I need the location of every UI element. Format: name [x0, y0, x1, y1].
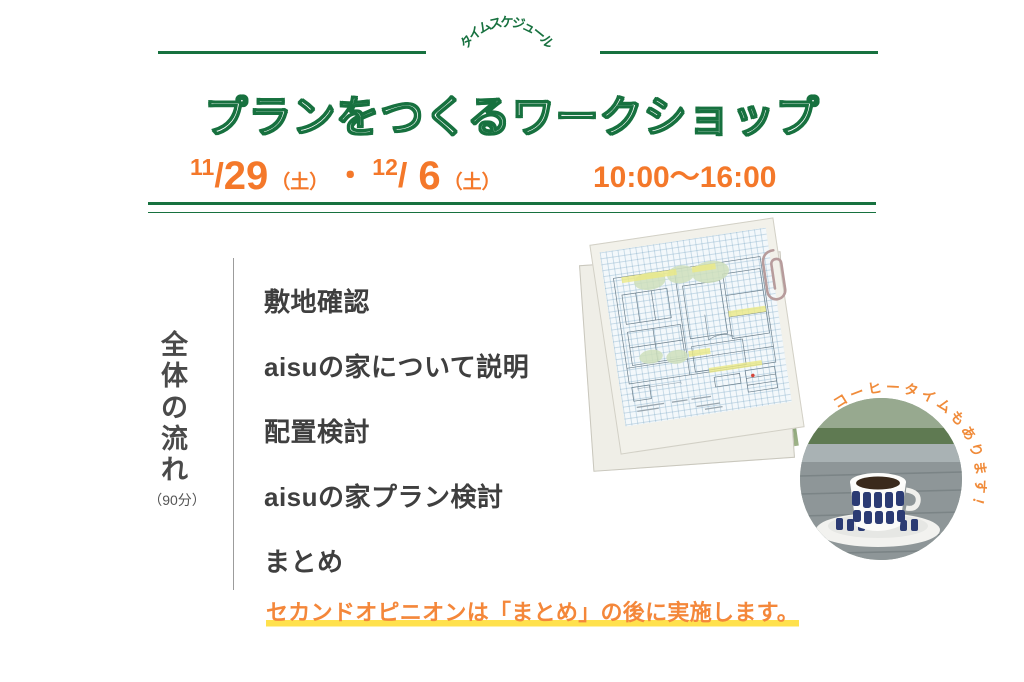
- page-title: プランをつくるワークショップ: [0, 83, 1024, 145]
- eyebrow-row: タイムスケジュール: [0, 28, 1024, 78]
- date-first-month: 11: [190, 156, 214, 179]
- arc-char: コ: [829, 389, 851, 413]
- date-first-dow: （土）: [271, 173, 328, 192]
- arc-char: ー: [886, 377, 901, 398]
- agenda-item: aisuの家プラン検討: [264, 477, 684, 514]
- date-second-dow: （土）: [444, 173, 501, 192]
- header-rule-left: [158, 51, 426, 54]
- agenda-item: 配置検討: [264, 412, 684, 449]
- coffee-caption-arc: コーヒータイムもあります！: [800, 390, 978, 568]
- date-second: 12 / 6 （土）: [372, 156, 500, 196]
- agenda-item: 敷地確認: [264, 282, 684, 319]
- arc-char: ！: [966, 495, 989, 514]
- flow-duration: （90分）: [142, 490, 212, 510]
- vertical-divider: [233, 258, 234, 590]
- date-separator: ・: [335, 162, 365, 192]
- agenda-item: aisuの家について説明: [264, 347, 684, 384]
- date-row: 11 / 29 （土） ・ 12 / 6 （土）: [190, 138, 501, 196]
- arc-char: ま: [970, 460, 992, 476]
- header-rule-right: [600, 51, 878, 54]
- date-second-day: 6: [418, 156, 440, 196]
- time-range: 10:00〜16:00: [593, 152, 776, 196]
- date-first-slash: /: [214, 159, 223, 193]
- date-first: 11 / 29 （土）: [190, 156, 328, 196]
- arc-char: タ: [902, 378, 920, 401]
- date-first-day: 29: [224, 156, 269, 196]
- arc-char: す: [970, 478, 991, 494]
- header-double-rule: [148, 202, 876, 213]
- arc-char: り: [965, 440, 988, 460]
- footnote-note: セカンドオピニオンは「まとめ」の後に実施します。: [266, 595, 799, 629]
- date-second-month: 12: [372, 156, 398, 179]
- paperclip-icon: [753, 241, 802, 308]
- date-second-slash: /: [398, 159, 407, 193]
- flow-label: 全体の流れ: [152, 330, 198, 487]
- timeschedule-poster: タイムスケジュール プランをつくるワークショップ 11 / 29 （土） ・ 1…: [0, 0, 1024, 682]
- arc-char: ー: [847, 381, 867, 405]
- arc-char: ヒ: [866, 377, 883, 399]
- agenda-item: まとめ: [264, 542, 684, 579]
